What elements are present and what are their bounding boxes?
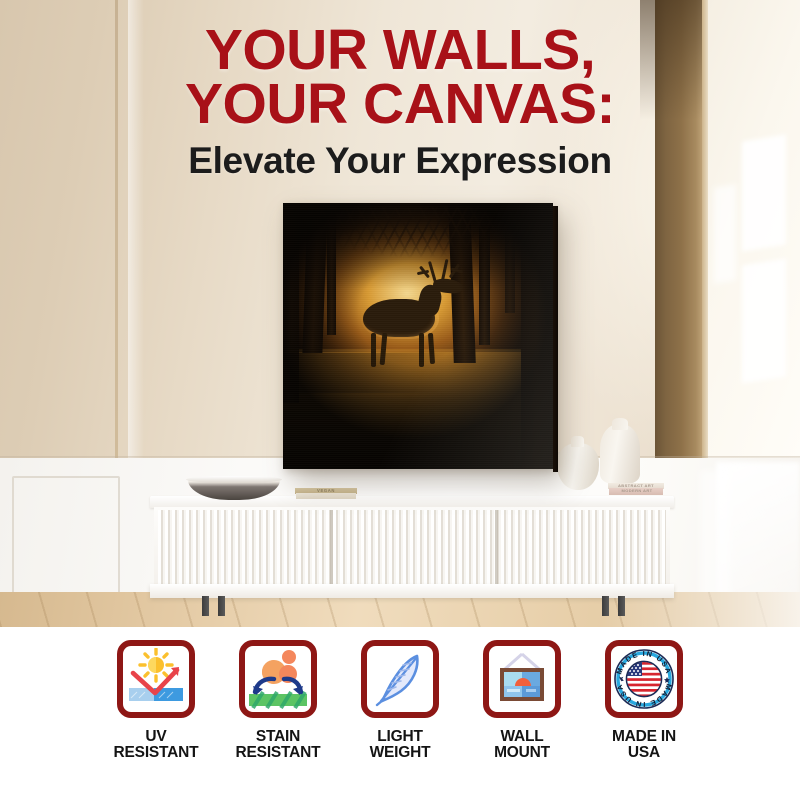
sideboard-furniture [150, 496, 674, 600]
feature-made-in-usa[interactable]: MADE IN USA MADE IN USA MADE IN USA [596, 640, 692, 800]
feature-label-line1: STAIN [256, 728, 300, 745]
feature-label-line2: RESISTANT [114, 744, 199, 761]
decorative-bowl-rim [186, 476, 282, 483]
light-weight-icon [369, 648, 431, 710]
feature-icon-box [483, 640, 561, 718]
feature-label-line1: UV [145, 728, 166, 745]
headline-subtitle: Elevate Your Expression [0, 140, 800, 182]
feature-icon-box: MADE IN USA MADE IN USA [605, 640, 683, 718]
sideboard-seam [330, 510, 333, 584]
feature-icon-box [239, 640, 317, 718]
headline-line-2: YOUR CANVAS: [0, 78, 800, 132]
headline-block: YOUR WALLS, YOUR CANVAS: Elevate Your Ex… [0, 24, 800, 182]
feature-icon-box [117, 640, 195, 718]
made-in-usa-icon: MADE IN USA MADE IN USA [612, 647, 676, 711]
tall-vase-neck [612, 418, 628, 430]
round-vase-neck [571, 436, 584, 447]
window-light-lower [716, 462, 800, 612]
book-stack-left: VEGAN [295, 488, 357, 499]
sideboard-seam [495, 510, 498, 584]
canvas-art-image [283, 203, 553, 469]
book-title-label: MODERN ART [609, 488, 665, 494]
feature-wall-mount[interactable]: WALL MOUNT [474, 640, 570, 800]
feature-label-line1: WALL [500, 728, 543, 745]
feature-label-line2: USA [628, 744, 660, 761]
canvas-light-reflection [283, 203, 553, 469]
wall-mount-icon [491, 648, 553, 710]
uv-resistant-icon [125, 648, 187, 710]
feature-label: LIGHT WEIGHT [370, 729, 431, 762]
sideboard-base [150, 584, 674, 598]
sideboard-fluted-front [158, 510, 666, 584]
feature-light-weight[interactable]: LIGHT WEIGHT [352, 640, 448, 800]
feature-icon-box [361, 640, 439, 718]
promo-poster: VEGAN ABSTRACT ART MODERN ART [0, 0, 800, 800]
stain-resistant-icon [247, 648, 309, 710]
sideboard-leg [602, 596, 609, 616]
window-light-patch-1 [714, 184, 736, 283]
feature-badges: UV RESISTANT [0, 640, 800, 800]
feature-label-line2: WEIGHT [370, 744, 431, 761]
round-ceramic-vase [557, 443, 599, 490]
book-stack-right: ABSTRACT ART MODERN ART [608, 483, 664, 495]
window-light-patch-3 [742, 259, 786, 384]
canvas-edge [553, 206, 558, 472]
feature-label-line1: MADE IN [612, 728, 676, 745]
feature-label-line2: MOUNT [494, 744, 550, 761]
feature-label: UV RESISTANT [114, 729, 199, 762]
feature-label: WALL MOUNT [494, 729, 550, 762]
headline-line-1: YOUR WALLS, [0, 24, 800, 78]
feature-label-line1: LIGHT [377, 728, 423, 745]
feature-label-line2: RESISTANT [236, 744, 321, 761]
book-cover [296, 493, 356, 499]
feature-uv-resistant[interactable]: UV RESISTANT [108, 640, 204, 800]
feature-label: MADE IN USA [612, 729, 676, 762]
feature-stain-resistant[interactable]: STAIN RESISTANT [230, 640, 326, 800]
sideboard-leg [618, 596, 625, 616]
canvas-artwork [283, 203, 553, 469]
book-cover: MODERN ART [609, 488, 663, 495]
sideboard-leg [202, 596, 209, 616]
sideboard-leg [218, 596, 225, 616]
feature-label: STAIN RESISTANT [236, 729, 321, 762]
tall-ceramic-vase [600, 424, 640, 484]
